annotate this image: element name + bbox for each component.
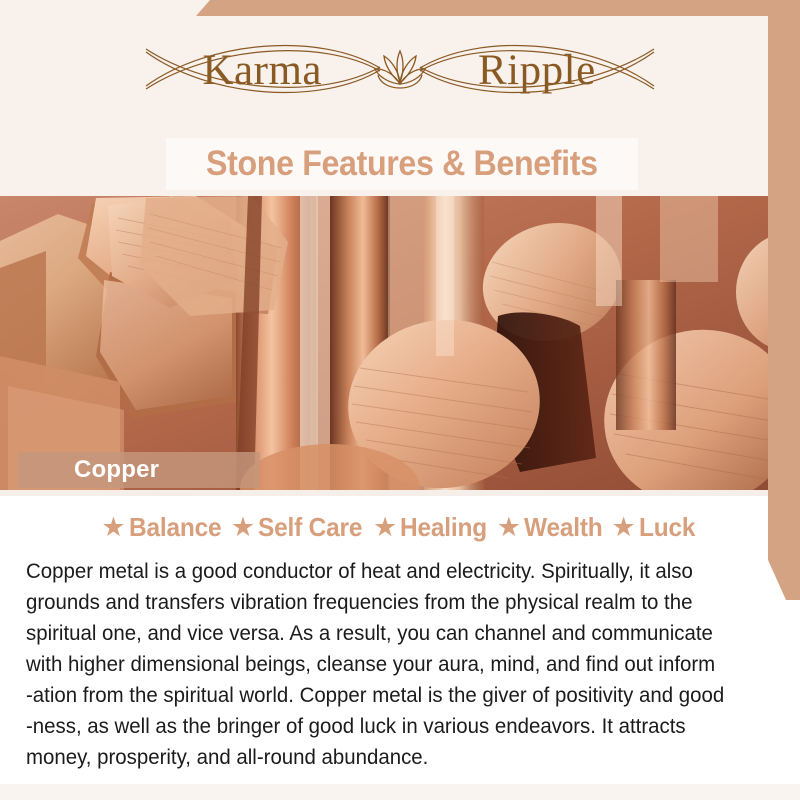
infographic-card: Karma Ripple Stone Features & Benefits (0, 0, 800, 800)
logo-artwork: Karma Ripple (90, 26, 710, 112)
description-text: Copper metal is a good conductor of heat… (26, 556, 772, 773)
hero-photo (0, 196, 800, 496)
benefit-label: Self Care (258, 512, 362, 543)
star-icon: ★ (231, 514, 255, 541)
star-icon: ★ (373, 514, 397, 541)
benefit-balance: ★ Balance (99, 512, 229, 543)
benefit-healing: ★ Healing (371, 512, 495, 543)
description-line: spiritual one, and vice versa. As a resu… (26, 618, 772, 649)
brand-logo: Karma Ripple (0, 26, 800, 112)
description-line: grounds and transfers vibration frequenc… (26, 587, 772, 618)
description-line: -ness, as well as the bringer of good lu… (26, 711, 772, 742)
benefit-label: Luck (639, 512, 695, 543)
right-accent-band (768, 0, 800, 600)
page-title: Stone Features & Benefits (206, 144, 598, 184)
stone-name-label: Copper (18, 456, 159, 484)
description-line: -ation from the spiritual world. Copper … (26, 680, 772, 711)
star-icon: ★ (612, 514, 636, 541)
benefit-label: Wealth (524, 512, 603, 543)
title-banner: Stone Features & Benefits (166, 138, 638, 190)
brand-name-right: Ripple (478, 47, 596, 94)
benefit-label: Healing (400, 512, 487, 543)
content-section: ★ Balance ★ Self Care ★ Healing ★ Wealth… (0, 496, 800, 800)
benefit-self-care: ★ Self Care (229, 512, 371, 543)
description-line: with higher dimensional beings, cleanse … (26, 649, 772, 680)
description-line: money, prosperity, and all-round abundan… (26, 742, 772, 773)
stone-name-badge: Copper (18, 452, 260, 488)
description-line: Copper metal is a good conductor of heat… (26, 556, 772, 587)
benefit-label: Balance (129, 512, 221, 543)
copper-rods-illustration (0, 196, 800, 496)
star-icon: ★ (497, 514, 521, 541)
benefit-wealth: ★ Wealth (495, 512, 610, 543)
bottom-edge-strip (0, 784, 800, 800)
lotus-icon (375, 51, 425, 88)
brand-name-left: Karma (203, 47, 323, 94)
star-icon: ★ (101, 514, 125, 541)
benefits-list: ★ Balance ★ Self Care ★ Healing ★ Wealth… (0, 496, 800, 550)
benefit-luck: ★ Luck (610, 512, 701, 543)
